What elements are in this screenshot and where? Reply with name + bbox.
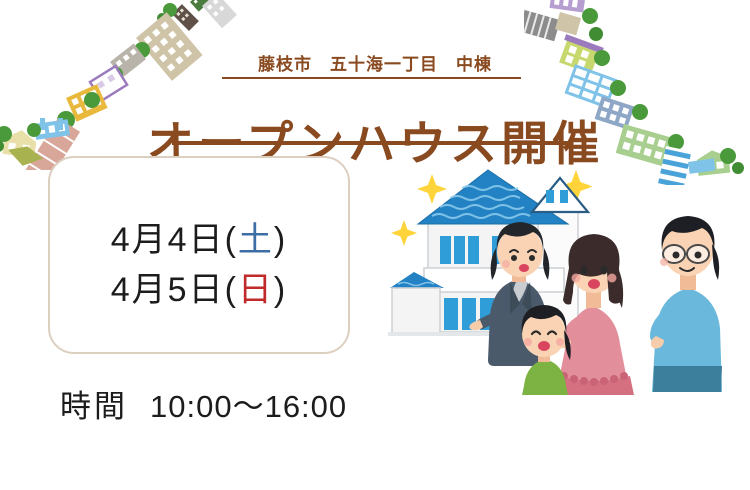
date-text-saturday: 4月4日: [111, 221, 225, 259]
real-estate-agent-woman: [469, 222, 550, 366]
date-text-sunday: 4月5日: [111, 271, 225, 309]
father: [650, 216, 722, 392]
open-house-family-illustration: [388, 160, 750, 395]
open-house-poster: 藤枝市 五十海一丁目 中棟 オープンハウス開催 4月4日(土) 4月5日(日) …: [0, 0, 750, 490]
weekday-saturday: 土: [238, 221, 274, 259]
paren-close-saturday: ): [274, 221, 287, 259]
date-line-sunday: 4月5日(日): [50, 262, 348, 311]
weekday-sunday: 日: [238, 271, 274, 309]
time-row: 時間 10:00〜16:00: [60, 381, 347, 426]
date-box: 4月4日(土) 4月5日(日): [48, 156, 350, 354]
time-value: 10:00〜16:00: [150, 381, 347, 426]
time-label: 時間: [60, 381, 128, 426]
mother: [554, 234, 634, 395]
subtitle-underline: [222, 77, 521, 79]
paren-open-saturday: (: [225, 221, 238, 259]
sparkle-icon: [391, 170, 593, 294]
date-line-saturday: 4月4日(土): [50, 212, 348, 261]
child: [522, 305, 571, 395]
paren-close-sunday: ): [274, 271, 287, 309]
title-underline: [172, 141, 572, 145]
house-illustration: [388, 170, 588, 336]
paren-open-sunday: (: [225, 271, 238, 309]
poster-subtitle: 藤枝市 五十海一丁目 中棟: [0, 54, 750, 76]
